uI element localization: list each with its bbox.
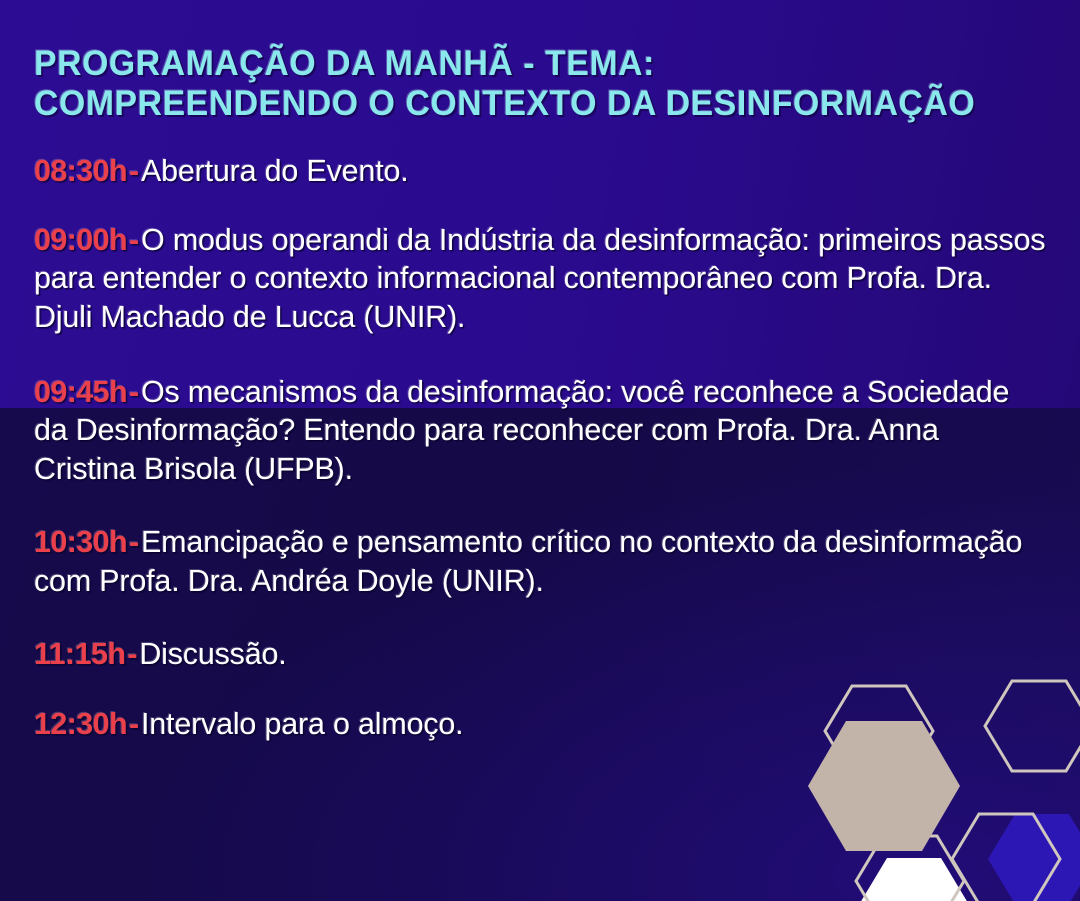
- schedule-item-time: 10:30h: [34, 525, 127, 559]
- schedule-item-text: Emancipação e pensamento crítico no cont…: [34, 525, 1022, 598]
- schedule-slide: PROGRAMAÇÃO DA MANHÃ - TEMA: COMPREENDEN…: [0, 0, 1080, 901]
- schedule-item-time: 08:30h: [34, 154, 127, 188]
- schedule-item-text: Abertura do Evento.: [141, 154, 408, 188]
- schedule-item: 10:30h-Emancipação e pensamento crítico …: [34, 523, 1046, 600]
- schedule-item: 08:30h-Abertura do Evento.: [34, 152, 1046, 191]
- slide-content: PROGRAMAÇÃO DA MANHÃ - TEMA: COMPREENDEN…: [0, 0, 1080, 901]
- schedule-item-time: 12:30h: [34, 707, 127, 741]
- schedule-item-separator: -: [127, 525, 141, 559]
- schedule-item-separator: -: [127, 223, 141, 257]
- schedule-item-separator: -: [127, 375, 141, 409]
- schedule-item: 11:15h-Discussão.: [34, 635, 1046, 674]
- schedule-item-text: Discussão.: [139, 637, 286, 671]
- schedule-item: 09:45h-Os mecanismos da desinformação: v…: [34, 373, 1046, 489]
- schedule-item-text: Intervalo para o almoço.: [141, 707, 463, 741]
- schedule-list: 08:30h-Abertura do Evento. 09:00h-O modu…: [34, 152, 1046, 744]
- schedule-item: 09:00h-O modus operandi da Indústria da …: [34, 221, 1046, 337]
- schedule-item-separator: -: [127, 707, 141, 741]
- schedule-item-separator: -: [125, 637, 139, 671]
- schedule-item-time: 09:00h: [34, 223, 127, 257]
- schedule-item-time: 09:45h: [34, 375, 127, 409]
- schedule-item-separator: -: [127, 154, 141, 188]
- schedule-item-time: 11:15h: [34, 637, 125, 671]
- schedule-item-text: O modus operandi da Indústria da desinfo…: [34, 223, 1045, 334]
- schedule-item-text: Os mecanismos da desinformação: você rec…: [34, 375, 1009, 486]
- page-title: PROGRAMAÇÃO DA MANHÃ - TEMA: COMPREENDEN…: [34, 0, 1011, 124]
- schedule-item: 12:30h-Intervalo para o almoço.: [34, 705, 1046, 744]
